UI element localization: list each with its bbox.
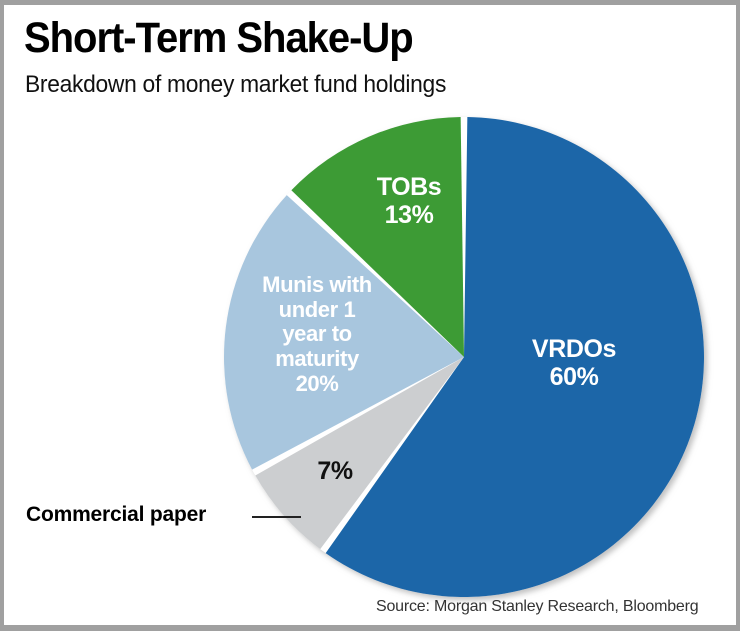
chart-subtitle: Breakdown of money market fund holdings bbox=[25, 71, 446, 99]
source-note: Source: Morgan Stanley Research, Bloombe… bbox=[376, 598, 698, 616]
chart-figure: Short-Term Shake-Up Breakdown of money m… bbox=[0, 0, 740, 631]
chart-canvas: Short-Term Shake-Up Breakdown of money m… bbox=[4, 5, 736, 625]
leader-line-commercial-paper bbox=[252, 516, 301, 518]
pie-label-commercial-paper-percent: 7% bbox=[300, 457, 370, 485]
chart-title: Short-Term Shake-Up bbox=[24, 17, 413, 60]
pie-label-munis: Munis with under 1 year to maturity 20% bbox=[242, 273, 392, 396]
pie-label-commercial-paper-name: Commercial paper bbox=[26, 503, 251, 527]
pie-label-tobs: TOBs 13% bbox=[334, 173, 484, 229]
pie-label-vrdos: VRDOs 60% bbox=[504, 335, 644, 391]
